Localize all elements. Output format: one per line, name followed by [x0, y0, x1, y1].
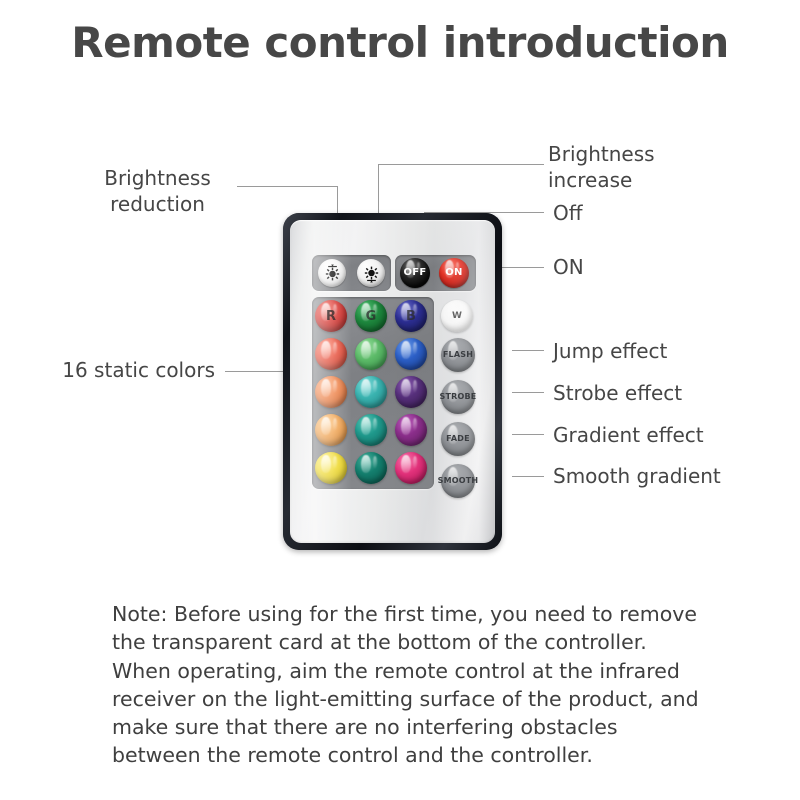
remote-control-device: OFF ON R G B W [283, 213, 502, 550]
color-button-4-2[interactable] [355, 414, 387, 446]
on-button[interactable]: ON [439, 258, 469, 288]
color-button-5-3[interactable] [395, 452, 427, 484]
color-button-w[interactable]: W [441, 300, 473, 332]
brightness-down-button[interactable] [318, 259, 346, 287]
button-highlight-small [413, 380, 417, 393]
callout-brightness-reduction: Brightness reduction [55, 166, 260, 217]
button-highlight-small [333, 342, 337, 355]
fade-button-label: FADE [446, 435, 470, 443]
button-highlight-small [413, 456, 417, 469]
leader-brightness-reduction-h [237, 186, 337, 187]
leader-brightness-increase-h [378, 164, 544, 165]
button-highlight-small [333, 418, 337, 431]
button-highlight [361, 379, 371, 398]
leader-gradient-h [512, 434, 544, 435]
callout-smooth-gradient: Smooth gradient [553, 464, 721, 490]
color-button-r-label: R [326, 310, 336, 323]
leader-smooth-h [512, 476, 544, 477]
button-highlight [401, 379, 411, 398]
button-highlight-small [373, 342, 377, 355]
color-button-5-2[interactable] [355, 452, 387, 484]
button-highlight [321, 417, 331, 436]
callout-gradient-effect: Gradient effect [553, 423, 704, 449]
button-highlight-small [333, 456, 337, 469]
color-button-3-2[interactable] [355, 376, 387, 408]
sun-down-icon [323, 264, 342, 283]
flash-button-label: FLASH [443, 351, 473, 359]
callout-static-colors: 16 static colors [20, 358, 215, 384]
off-button-label: OFF [403, 268, 426, 278]
color-button-b[interactable]: B [395, 300, 427, 332]
color-button-b-label: B [406, 310, 416, 323]
button-highlight-small [373, 418, 377, 431]
callout-off: Off [553, 201, 583, 227]
button-highlight-small [413, 342, 417, 355]
color-button-g[interactable]: G [355, 300, 387, 332]
note-paragraph: Note: Before using for the first time, y… [112, 600, 712, 770]
color-button-4-3[interactable] [395, 414, 427, 446]
color-button-g-label: G [366, 310, 377, 323]
leader-strobe-h [512, 392, 544, 393]
page-title: Remote control introduction [0, 18, 800, 67]
button-highlight [321, 455, 331, 474]
button-highlight [361, 341, 371, 360]
color-button-2-2[interactable] [355, 338, 387, 370]
fade-button[interactable]: FADE [441, 422, 475, 456]
strobe-button[interactable]: STROBE [441, 380, 475, 414]
button-highlight [321, 379, 331, 398]
callout-brightness-increase: Brightness increase [548, 142, 728, 193]
flash-button[interactable]: FLASH [441, 338, 475, 372]
sun-up-icon [362, 264, 381, 283]
remote-faceplate: OFF ON R G B W [290, 220, 495, 543]
callout-strobe-effect: Strobe effect [553, 381, 682, 407]
color-button-w-label: W [452, 312, 462, 321]
brightness-up-button[interactable] [357, 259, 385, 287]
leader-jump-h [512, 350, 544, 351]
button-highlight [401, 455, 411, 474]
color-button-2-1[interactable] [315, 338, 347, 370]
button-highlight [401, 417, 411, 436]
strobe-button-label: STROBE [440, 393, 477, 401]
off-button[interactable]: OFF [400, 258, 430, 288]
button-highlight [361, 417, 371, 436]
brightness-button-plate [312, 255, 391, 291]
button-highlight-small [373, 456, 377, 469]
smooth-button[interactable]: SMOOTH [441, 464, 475, 498]
color-button-4-1[interactable] [315, 414, 347, 446]
power-button-plate: OFF ON [395, 255, 476, 291]
color-button-5-1[interactable] [315, 452, 347, 484]
callout-on: ON [553, 255, 584, 281]
button-highlight [321, 341, 331, 360]
on-button-label: ON [445, 268, 462, 278]
button-highlight-small [333, 380, 337, 393]
color-button-2-3[interactable] [395, 338, 427, 370]
color-button-3-1[interactable] [315, 376, 347, 408]
button-highlight [401, 341, 411, 360]
color-button-r[interactable]: R [315, 300, 347, 332]
leader-on-h [497, 267, 544, 268]
button-highlight [361, 455, 371, 474]
button-highlight-small [413, 418, 417, 431]
smooth-button-label: SMOOTH [438, 477, 479, 485]
button-highlight-small [373, 380, 377, 393]
color-button-3-3[interactable] [395, 376, 427, 408]
callout-jump-effect: Jump effect [553, 339, 667, 365]
